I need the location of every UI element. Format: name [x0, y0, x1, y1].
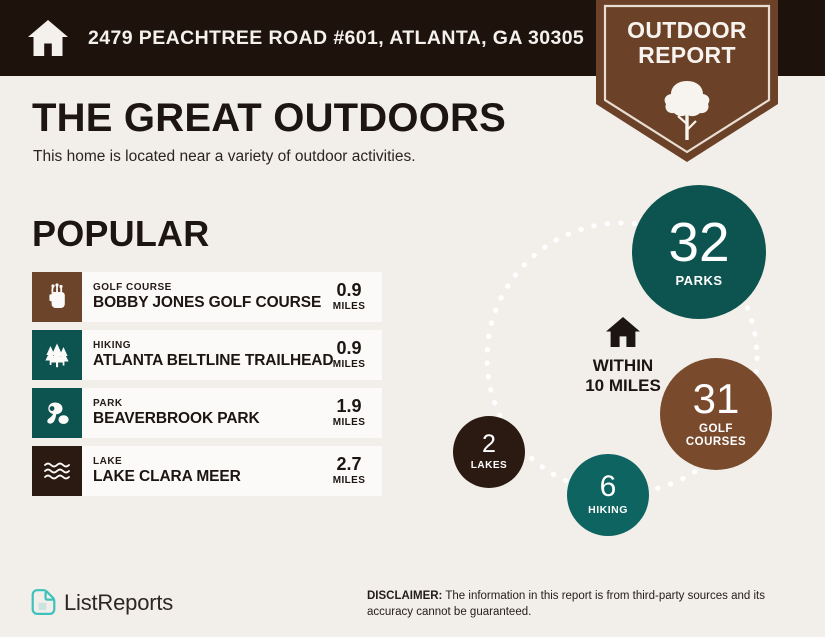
poi-distance: 1.9 MILES — [322, 388, 382, 438]
poi-icon-tile — [32, 272, 82, 322]
diagram-center-label: WITHIN 10 MILES — [538, 316, 708, 395]
stat-bubble-parks[interactable]: 32 PARKS — [632, 185, 766, 319]
poi-text: LAKE LAKE CLARA MEER — [82, 446, 322, 496]
poi-distance-unit: MILES — [333, 474, 366, 487]
poi-distance: 0.9 MILES — [322, 330, 382, 380]
outdoor-report-infographic: 2479 PEACHTREE ROAD #601, ATLANTA, GA 30… — [0, 0, 825, 637]
stat-label-parks: PARKS — [675, 274, 722, 288]
poi-icon-tile — [32, 330, 82, 380]
poi-icon-tile — [32, 388, 82, 438]
listreports-logo-text: ListReports — [64, 590, 173, 616]
poi-category: HIKING — [93, 340, 322, 352]
disclaimer: DISCLAIMER: The information in this repo… — [367, 589, 792, 621]
listreports-logo[interactable]: ListReports — [30, 588, 173, 617]
poi-distance-value: 0.9 — [336, 281, 361, 300]
pine-trees-icon — [42, 340, 72, 370]
stat-bubble-hiking[interactable]: 6 HIKING — [567, 454, 649, 536]
outdoor-report-badge: OUTDOOR REPORT — [596, 0, 778, 162]
badge-title-line2: REPORT — [596, 43, 778, 68]
stat-value-parks: 32 — [668, 216, 729, 268]
poi-distance-unit: MILES — [333, 300, 366, 313]
listreports-logo-icon — [30, 588, 57, 617]
poi-distance-value: 2.7 — [336, 455, 361, 474]
poi-category: PARK — [93, 398, 322, 410]
stat-value-hiking: 6 — [600, 473, 617, 502]
stat-label-hiking: HIKING — [588, 505, 628, 517]
poi-distance-value: 1.9 — [336, 397, 361, 416]
list-item[interactable]: HIKING ATLANTA BELTLINE TRAILHEAD 0.9 MI… — [32, 330, 382, 380]
page-subtitle: This home is located near a variety of o… — [33, 148, 416, 166]
disclaimer-label: DISCLAIMER: — [367, 590, 442, 602]
list-item[interactable]: PARK BEAVERBROOK PARK 1.9 MILES — [32, 388, 382, 438]
stat-label-golf-courses: GOLF COURSES — [686, 423, 746, 448]
home-icon — [605, 316, 641, 348]
page-title: THE GREAT OUTDOORS — [32, 96, 506, 141]
property-address: 2479 PEACHTREE ROAD #601, ATLANTA, GA 30… — [88, 27, 584, 50]
popular-places-list: GOLF COURSE BOBBY JONES GOLF COURSE 0.9 … — [32, 272, 382, 504]
stat-value-lakes: 2 — [482, 433, 496, 457]
poi-text: GOLF COURSE BOBBY JONES GOLF COURSE — [82, 272, 322, 322]
stat-bubble-lakes[interactable]: 2 LAKES — [453, 416, 525, 488]
poi-distance-unit: MILES — [333, 358, 366, 371]
poi-category: GOLF COURSE — [93, 282, 322, 294]
badge-title: OUTDOOR REPORT — [596, 18, 778, 67]
stat-label-golf-line2: COURSES — [686, 436, 746, 448]
badge-title-line1: OUTDOOR — [596, 18, 778, 43]
poi-distance-unit: MILES — [333, 416, 366, 429]
poi-category: LAKE — [93, 456, 322, 468]
home-icon — [26, 18, 70, 58]
poi-name: ATLANTA BELTLINE TRAILHEAD — [93, 352, 322, 370]
stat-label-golf-line1: GOLF — [699, 423, 733, 435]
poi-name: BEAVERBROOK PARK — [93, 410, 322, 428]
poi-text: HIKING ATLANTA BELTLINE TRAILHEAD — [82, 330, 322, 380]
center-caption: WITHIN 10 MILES — [538, 356, 708, 395]
water-waves-icon — [42, 456, 72, 486]
poi-icon-tile — [32, 446, 82, 496]
center-caption-line1: WITHIN — [538, 356, 708, 376]
poi-distance: 0.9 MILES — [322, 272, 382, 322]
popular-section-title: POPULAR — [32, 213, 209, 255]
golf-bag-icon — [42, 282, 72, 312]
list-item[interactable]: LAKE LAKE CLARA MEER 2.7 MILES — [32, 446, 382, 496]
list-item[interactable]: GOLF COURSE BOBBY JONES GOLF COURSE 0.9 … — [32, 272, 382, 322]
poi-distance: 2.7 MILES — [322, 446, 382, 496]
within-10-miles-diagram: 32 PARKS 31 GOLF COURSES 6 HIKING 2 LAKE… — [420, 178, 820, 553]
poi-name: BOBBY JONES GOLF COURSE — [93, 294, 322, 312]
center-caption-line2: 10 MILES — [538, 376, 708, 396]
poi-name: LAKE CLARA MEER — [93, 468, 322, 486]
poi-text: PARK BEAVERBROOK PARK — [82, 388, 322, 438]
stat-label-lakes: LAKES — [471, 460, 507, 471]
poi-distance-value: 0.9 — [336, 339, 361, 358]
park-trees-icon — [42, 398, 72, 428]
